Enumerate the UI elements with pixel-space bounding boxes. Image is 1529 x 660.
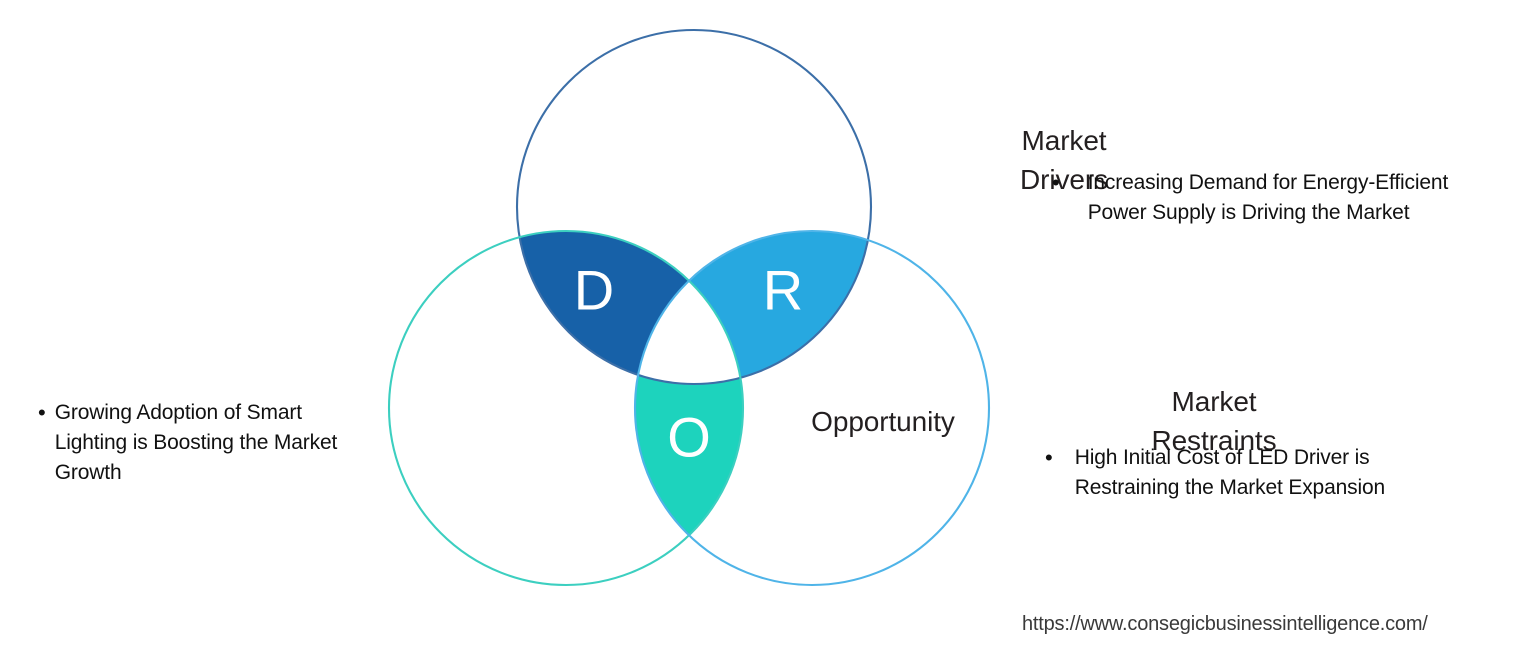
bullet-icon: •: [38, 398, 46, 427]
callout-market-drivers: • Increasing Demand for Energy-Efficient…: [1052, 168, 1482, 228]
lens-letter-r: R: [763, 259, 803, 322]
callout-opportunity-text: Growing Adoption of Smart Lighting is Bo…: [55, 398, 378, 489]
venn-diagram: D R O Market Drivers Opportunity Market …: [370, 10, 1010, 590]
bullet-icon: •: [1045, 443, 1053, 472]
lens-letter-o: O: [667, 406, 711, 469]
lens-letter-d: D: [574, 259, 614, 322]
source-url-link[interactable]: https://www.consegicbusinessintelligence…: [1022, 613, 1428, 636]
callout-opportunity: • Growing Adoption of Smart Lighting is …: [38, 398, 378, 489]
infographic-page: D R O Market Drivers Opportunity Market …: [0, 0, 1529, 660]
callout-market-drivers-text: Increasing Demand for Energy-Efficient P…: [1088, 168, 1482, 228]
callout-market-restraints: • High Initial Cost of LED Driver is Res…: [1045, 443, 1475, 503]
bullet-icon: •: [1052, 168, 1060, 197]
venn-svg: D R O: [370, 10, 1010, 590]
callout-market-restraints-text: High Initial Cost of LED Driver is Restr…: [1075, 443, 1475, 503]
set-label-opportunity: Opportunity: [783, 403, 983, 442]
